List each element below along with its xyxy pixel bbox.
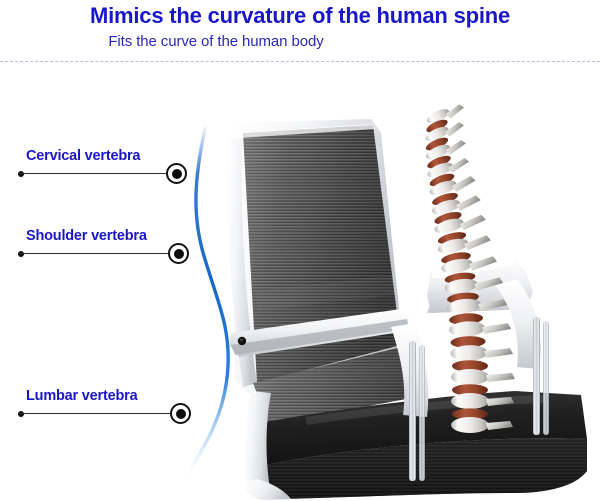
target-dot-icon[interactable] [166,163,187,184]
infographic-canvas: Mimics the curvature of the human spine … [0,0,600,501]
target-dot-icon[interactable] [170,403,191,424]
target-dot-icon[interactable] [168,243,189,264]
callout-label-cervical: Cervical vertebra [26,148,140,164]
header-divider [0,61,600,62]
page-subtitle: Fits the curve of the human body [0,33,600,50]
callout-label-lumbar: Lumbar vertebra [26,388,137,404]
callout-label-shoulder: Shoulder vertebra [26,228,147,244]
leader-line-icon [21,413,178,414]
page-title: Mimics the curvature of the human spine [0,3,600,29]
leader-line-icon [21,253,178,254]
header: Mimics the curvature of the human spine … [0,0,600,62]
human-spine-anatomy-icon [400,100,550,440]
leader-line-icon [21,173,176,174]
